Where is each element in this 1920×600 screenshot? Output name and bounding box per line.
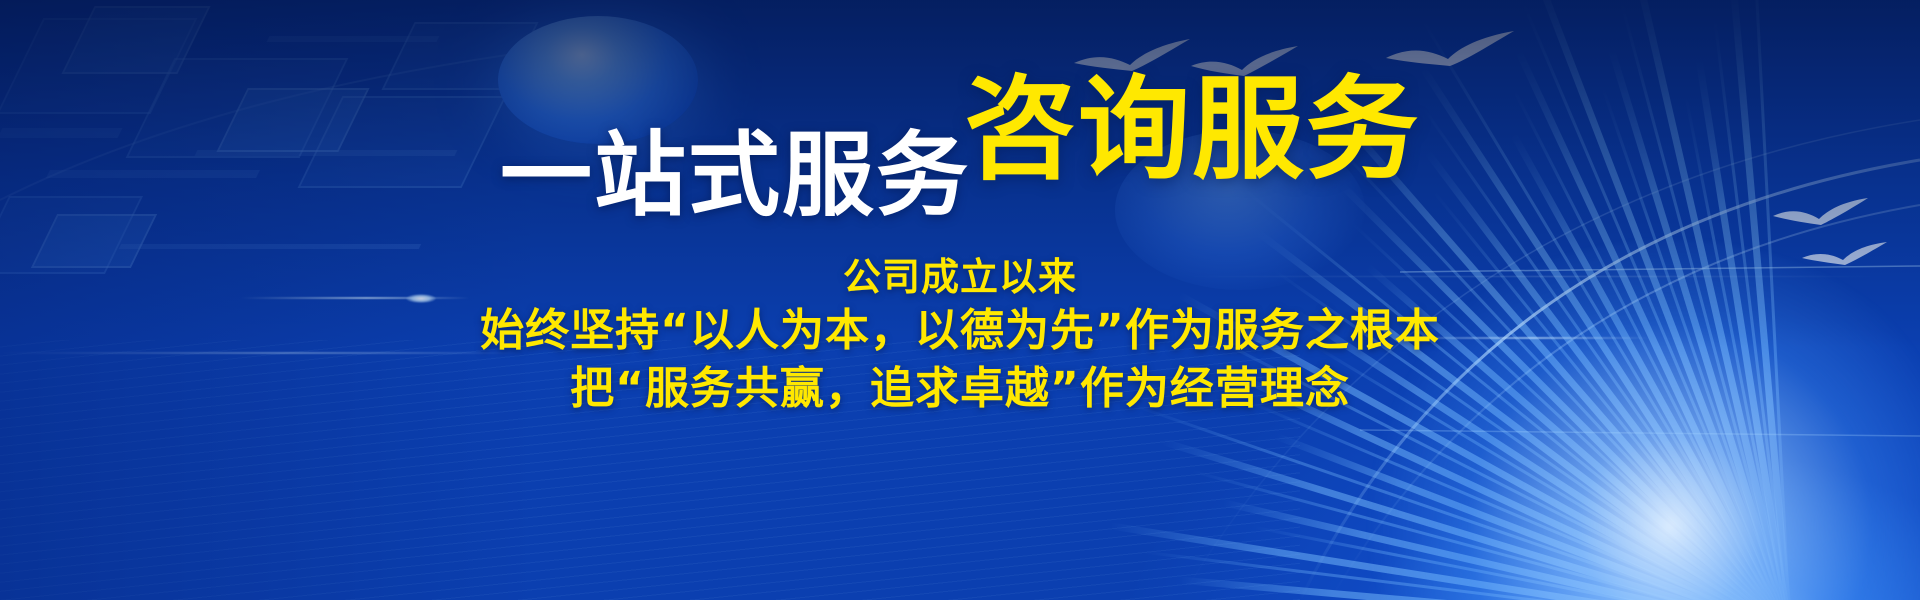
- tagline-line-2: 始终坚持“以人为本，以德为先”作为服务之根本: [0, 302, 1920, 360]
- tagline-block: 公司成立以来 始终坚持“以人为本，以德为先”作为服务之根本 把“服务共赢，追求卓…: [0, 252, 1920, 418]
- tagline-line-1: 公司成立以来: [0, 252, 1920, 302]
- headline-primary: 一站式服务: [500, 122, 970, 229]
- promo-banner: 一站式服务咨询服务 公司成立以来 始终坚持“以人为本，以德为先”作为服务之根本 …: [0, 0, 1920, 600]
- headline: 一站式服务咨询服务: [0, 74, 1920, 186]
- headline-accent: 咨询服务: [964, 65, 1420, 195]
- tagline-line-3: 把“服务共赢，追求卓越”作为经营理念: [0, 360, 1920, 418]
